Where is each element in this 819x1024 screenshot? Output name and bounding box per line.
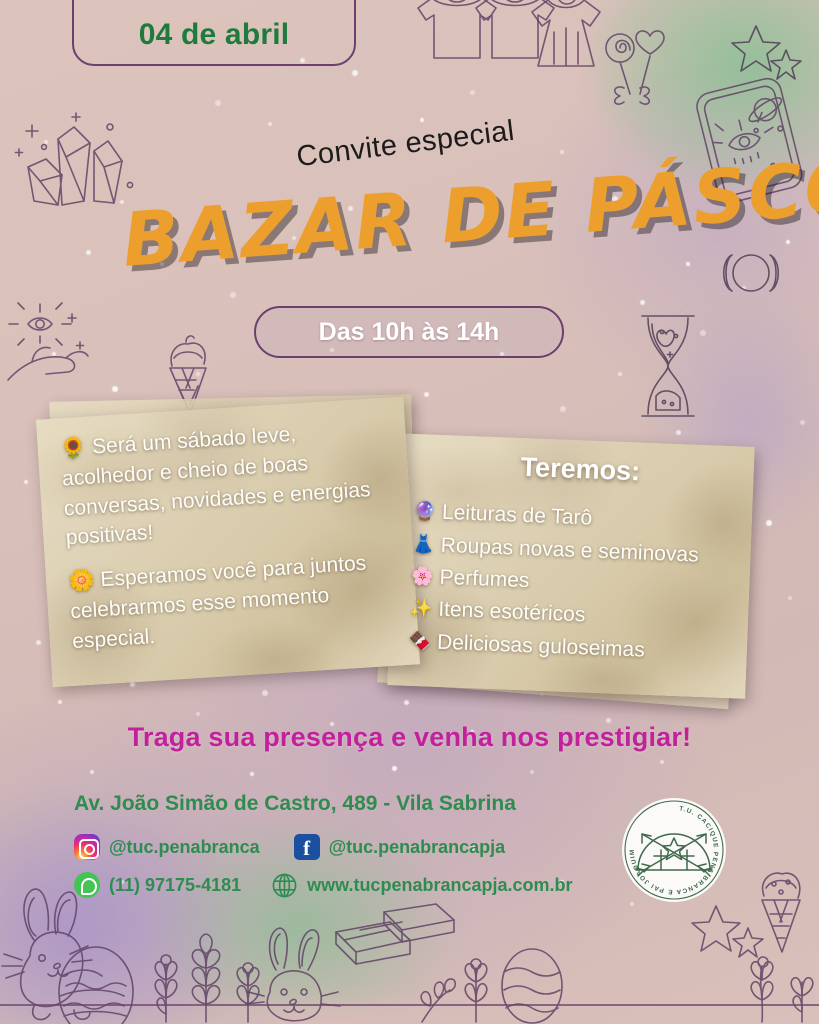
offerings-block: Teremos: 🔮Leituras de Tarô👗Roupas novas … xyxy=(408,444,746,672)
website-contact[interactable]: www.tucpenabrancapja.com.br xyxy=(271,872,572,899)
eye-icon xyxy=(727,131,762,153)
call-to-action-text: Traga sua presença e venha nos prestigia… xyxy=(0,722,819,753)
whatsapp-number: (11) 97175-4181 xyxy=(109,875,241,896)
time-badge: Das 10h às 14h xyxy=(254,306,564,358)
fern-plant-icon xyxy=(406,932,566,1024)
sparkles-icon: ✨ xyxy=(409,595,432,622)
website-url: www.tucpenabrancapja.com.br xyxy=(307,875,572,896)
triple-moon-icon xyxy=(708,248,794,298)
easter-egg-icon xyxy=(59,947,133,1024)
whatsapp-contact[interactable]: (11) 97175-4181 xyxy=(74,872,241,898)
facebook-icon: f xyxy=(294,834,320,860)
offering-item: 🍫Deliciosas guloseimas xyxy=(408,627,739,667)
chocolate-bar-icon: 🍫 xyxy=(408,627,431,654)
instagram-handle: @tuc.penabranca xyxy=(109,837,260,858)
blossom-icon: 🌸 xyxy=(411,563,434,590)
hourglass-celestial-icon xyxy=(626,308,710,424)
eye-in-hand-icon xyxy=(2,288,124,398)
fern-plant-icon xyxy=(740,938,819,1024)
intro-message: 🌻 Será um sábado leve, acolhedor e cheio… xyxy=(59,414,402,657)
ground-line xyxy=(0,1004,819,1006)
offering-item-label: Deliciosas guloseimas xyxy=(437,628,739,667)
time-badge-label: Das 10h às 14h xyxy=(319,318,500,347)
contact-row-1: @tuc.penabranca f @tuc.penabrancapja xyxy=(74,830,614,864)
date-badge-label: 04 de abril xyxy=(139,18,290,52)
globe-icon xyxy=(271,872,298,899)
offering-item-label: Leituras de Tarô xyxy=(442,499,744,538)
organization-logo: T.U. CACIQUE PENA BRANCA E PAI JOAQUIM D… xyxy=(608,798,740,908)
crystal-ball-icon: 🔮 xyxy=(413,498,436,525)
easter-bazaar-flyer: 04 de abril Convite especial BAZAR DE PÁ… xyxy=(0,0,819,1024)
easter-egg-icon xyxy=(502,949,562,1023)
bunny-icon xyxy=(244,924,360,1024)
dress-icon: 👗 xyxy=(412,530,435,557)
contact-row-2: (11) 97175-4181 www.tucpenabrancapja.com… xyxy=(74,868,614,902)
contact-block: @tuc.penabranca f @tuc.penabrancapja (11… xyxy=(74,830,614,906)
address-text: Av. João Simão de Castro, 489 - Vila Sab… xyxy=(74,792,516,816)
star-icon xyxy=(730,20,802,82)
offerings-list: 🔮Leituras de Tarô👗Roupas novas e seminov… xyxy=(408,498,744,667)
facebook-contact[interactable]: f @tuc.penabrancapja xyxy=(294,834,506,860)
whatsapp-icon xyxy=(74,872,100,898)
instagram-icon xyxy=(74,834,100,860)
offering-item-label: Perfumes xyxy=(439,564,741,603)
instagram-contact[interactable]: @tuc.penabranca xyxy=(74,834,260,860)
facebook-handle: @tuc.penabrancapja xyxy=(329,837,506,858)
date-badge: 04 de abril xyxy=(72,0,356,66)
intro-paragraph-1: 🌻 Será um sábado leve, acolhedor e cheio… xyxy=(59,414,396,554)
lollipop-icon xyxy=(600,22,676,112)
